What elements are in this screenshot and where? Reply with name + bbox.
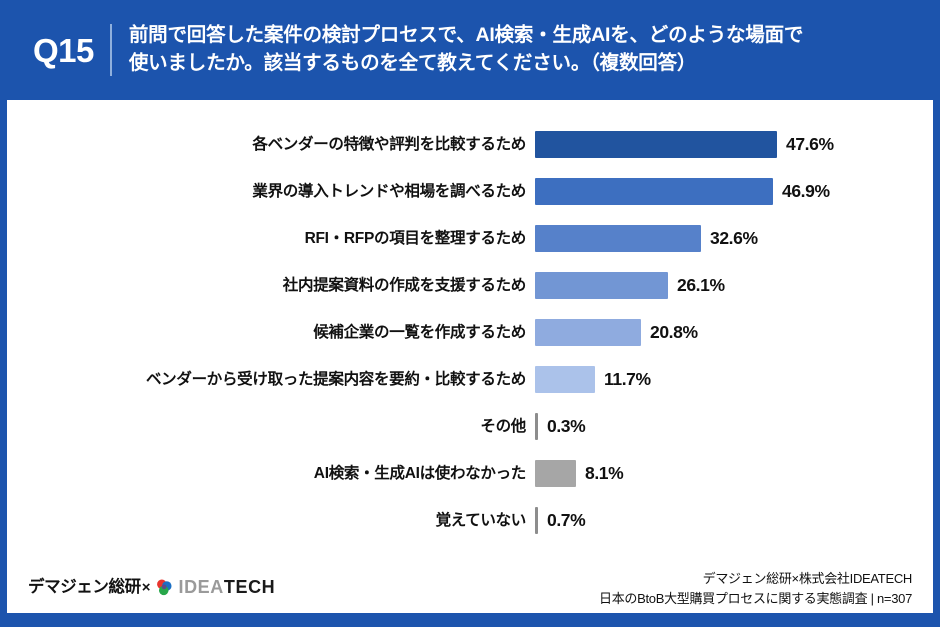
chart-bar-value: 26.1% [677,277,725,295]
credit-line-2: 日本のBtoB大型購買プロセスに関する実態調査 | n=307 [599,589,912,609]
chart-row-label: RFI・RFPの項目を整理するため [7,231,535,247]
chart-bar-wrap: 8.1% [535,460,933,487]
question-text-line-2: 使いましたか。該当するものを全て教えてください。（複数回答） [129,50,803,78]
chart-row-label: 候補企業の一覧を作成するため [7,325,535,341]
ideatech-logo-icon [155,578,174,597]
chart-panel: 各ベンダーの特徴や評判を比較するため47.6%業界の導入トレンドや相場を調べるた… [7,100,933,613]
chart-row-label: 業界の導入トレンドや相場を調べるため [7,184,535,200]
header-divider [110,24,112,76]
chart-row-label: AI検索・生成AIは使わなかった [7,466,535,482]
slide-footer: デマジェン総研 × IDEA TECH デマジェン総研×株式会社IDEATECH… [7,560,933,613]
chart-row: 業界の導入トレンドや相場を調べるため46.9% [7,168,933,215]
chart-bar [535,507,538,534]
chart-row: RFI・RFPの項目を整理するため32.6% [7,215,933,262]
question-text-line-1: 前問で回答した案件の検討プロセスで、AI検索・生成AIを、どのような場面で [129,22,803,50]
logo-text-idea: IDEA [178,578,223,596]
logo-text-tech: TECH [224,578,275,596]
chart-bar-wrap: 20.8% [535,319,933,346]
chart-row-label: 各ベンダーの特徴や評判を比較するため [7,137,535,153]
chart-row: 候補企業の一覧を作成するため20.8% [7,309,933,356]
chart-bar-wrap: 46.9% [535,178,933,205]
chart-row-label: その他 [7,419,535,435]
chart-row: 社内提案資料の作成を支援するため26.1% [7,262,933,309]
chart-bar-wrap: 0.7% [535,507,933,534]
chart-row: その他0.3% [7,403,933,450]
chart-bar-value: 8.1% [585,465,623,483]
chart-bar [535,225,701,252]
chart-bar [535,460,576,487]
chart-bar-value: 20.8% [650,324,698,342]
question-text: 前問で回答した案件の検討プロセスで、AI検索・生成AIを、どのような場面で 使い… [129,22,803,77]
chart-bar [535,319,641,346]
chart-row: 覚えていない0.7% [7,497,933,544]
chart-bar-wrap: 32.6% [535,225,933,252]
bar-chart: 各ベンダーの特徴や評判を比較するため47.6%業界の導入トレンドや相場を調べるた… [7,121,933,544]
chart-row: AI検索・生成AIは使わなかった8.1% [7,450,933,497]
chart-bar-value: 11.7% [604,371,651,389]
chart-bar-wrap: 0.3% [535,413,933,440]
survey-credit: デマジェン総研×株式会社IDEATECH 日本のBtoB大型購買プロセスに関する… [599,569,912,609]
chart-bar-value: 46.9% [782,183,830,201]
question-number: Q15 [33,34,110,67]
chart-bar-wrap: 47.6% [535,131,933,158]
chart-bar [535,272,668,299]
chart-bar-wrap: 11.7% [535,366,933,393]
chart-bar-value: 32.6% [710,230,758,248]
chart-bar [535,131,777,158]
chart-row-label: 社内提案資料の作成を支援するため [7,278,535,294]
chart-bar-wrap: 26.1% [535,272,933,299]
brand-lockup: デマジェン総研 × IDEA TECH [28,574,275,600]
chart-row: ベンダーから受け取った提案内容を要約・比較するため11.7% [7,356,933,403]
credit-line-1: デマジェン総研×株式会社IDEATECH [599,569,912,589]
slide-root: Q15 前問で回答した案件の検討プロセスで、AI検索・生成AIを、どのような場面… [0,0,940,627]
chart-row-label: ベンダーから受け取った提案内容を要約・比較するため [7,372,535,388]
chart-row: 各ベンダーの特徴や評判を比較するため47.6% [7,121,933,168]
chart-bar [535,178,773,205]
brand-separator: × [142,580,151,595]
chart-row-label: 覚えていない [7,513,535,529]
chart-bar [535,413,538,440]
chart-bar-value: 0.3% [547,418,585,436]
question-header: Q15 前問で回答した案件の検討プロセスで、AI検索・生成AIを、どのような場面… [0,0,940,100]
brand-name-jp: デマジェン総研 [28,579,141,596]
chart-bar-value: 47.6% [786,136,834,154]
chart-bar [535,366,595,393]
chart-bar-value: 0.7% [547,512,585,530]
